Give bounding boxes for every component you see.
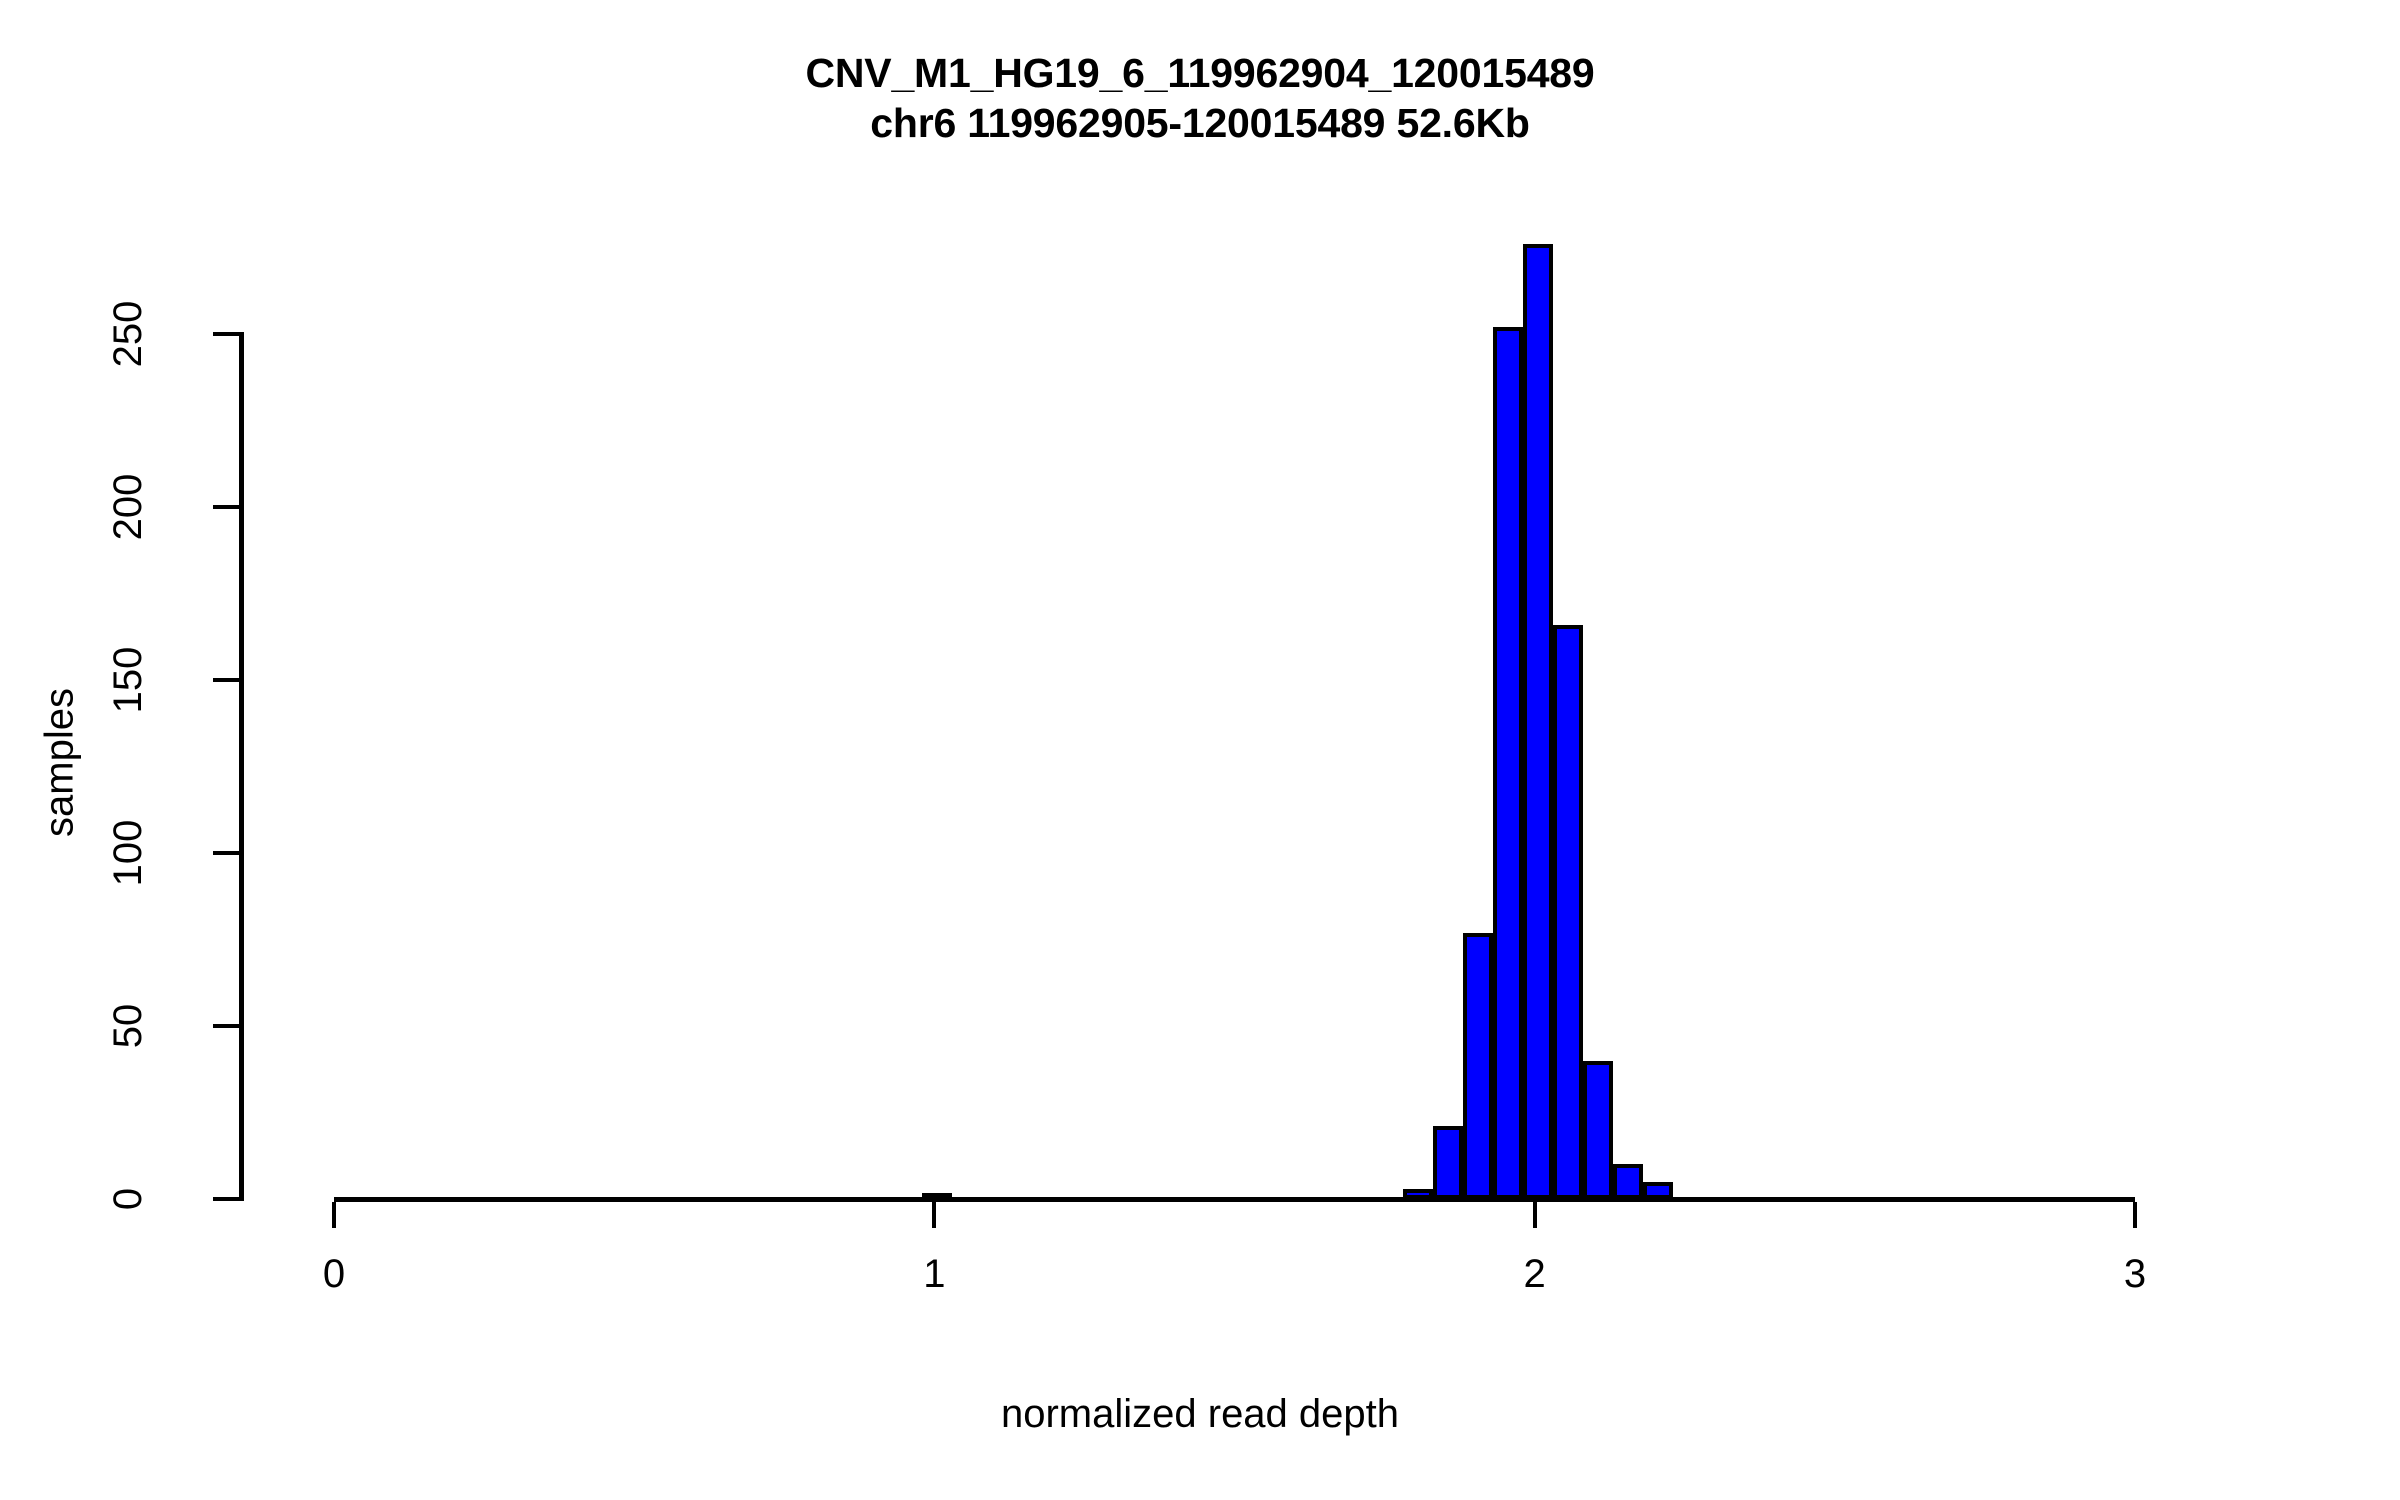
- x-axis-title: normalized read depth: [0, 1392, 2400, 1437]
- y-axis-tick-label-wrap: 50: [48, 1006, 208, 1046]
- y-axis-tick-label: 0: [108, 1119, 148, 1279]
- y-axis-tick-label-wrap: 200: [48, 487, 208, 527]
- histogram-bar: [1583, 1061, 1613, 1199]
- y-axis-line: [239, 332, 244, 1201]
- x-axis-tick-label: 2: [1475, 1252, 1595, 1297]
- y-axis-tick-label: 50: [108, 946, 148, 1106]
- y-axis-tick-label: 100: [108, 773, 148, 933]
- histogram-bar: [1523, 244, 1553, 1199]
- y-axis-tick: [213, 1024, 239, 1028]
- x-axis-line: [334, 1197, 2135, 1202]
- histogram-page: CNV_M1_HG19_6_119962904_120015489 chr6 1…: [0, 0, 2400, 1500]
- y-axis-title: samples: [38, 663, 83, 863]
- histogram-bar: [1553, 625, 1583, 1199]
- y-axis-tick: [213, 332, 239, 336]
- x-axis-tick: [1533, 1202, 1537, 1228]
- y-axis-tick-label: 150: [108, 600, 148, 760]
- plot-area: 0123 050100150200250 normalized read dep…: [0, 0, 2400, 1500]
- x-axis-tick-label: 0: [274, 1252, 394, 1297]
- histogram-bar: [1613, 1164, 1643, 1199]
- histogram-bar: [1493, 327, 1523, 1199]
- y-axis-tick: [213, 505, 239, 509]
- x-axis-tick: [932, 1202, 936, 1228]
- histogram-bar: [1463, 933, 1493, 1199]
- x-axis-tick: [332, 1202, 336, 1228]
- y-axis-tick-label-wrap: 0: [48, 1179, 208, 1219]
- x-axis-tick-label: 3: [2075, 1252, 2195, 1297]
- y-axis-tick-label: 200: [108, 427, 148, 587]
- y-axis-tick-label-wrap: 250: [48, 314, 208, 354]
- y-axis-tick: [213, 1197, 239, 1201]
- y-axis-tick: [213, 678, 239, 682]
- x-axis-tick: [2133, 1202, 2137, 1228]
- histogram-bar: [1433, 1126, 1463, 1199]
- y-axis-tick: [213, 851, 239, 855]
- y-axis-tick-label: 250: [108, 254, 148, 414]
- x-axis-tick-label: 1: [874, 1252, 994, 1297]
